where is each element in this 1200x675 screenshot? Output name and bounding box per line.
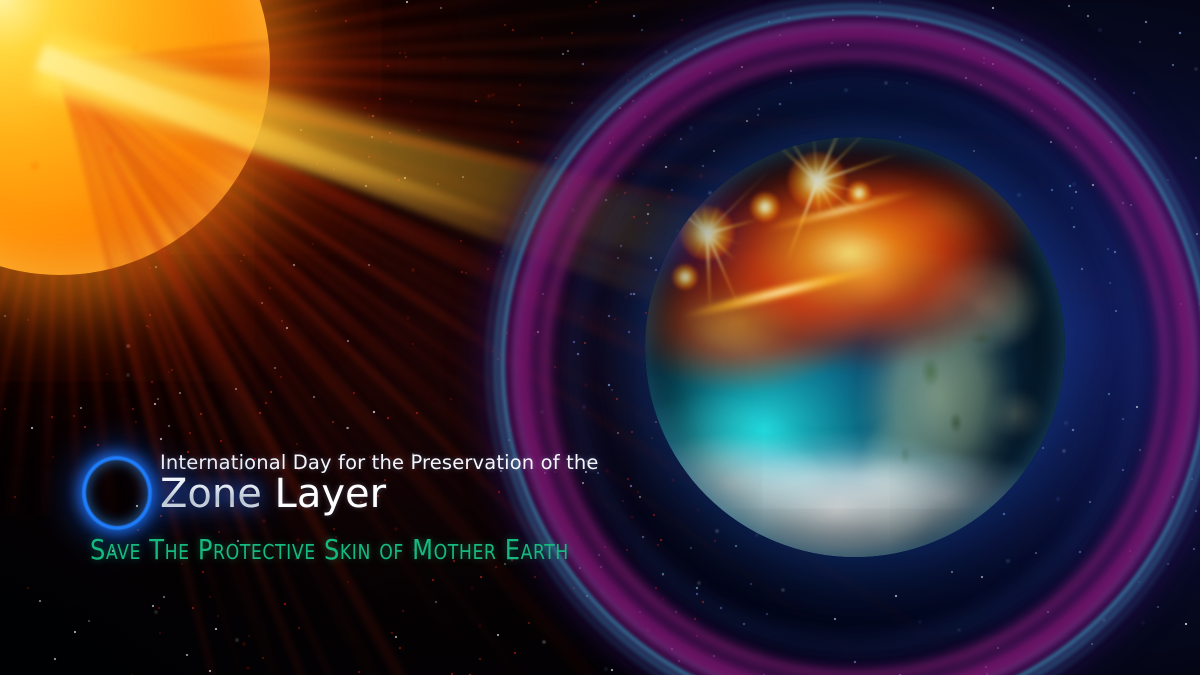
tagline: Save The Protective Skin of Mother Earth xyxy=(90,533,569,566)
earth-group xyxy=(585,95,1125,635)
headline-word-layer: Layer xyxy=(262,471,386,517)
headline-word-zone: Zone xyxy=(160,471,262,517)
poster-canvas: International Day for the Preservation o… xyxy=(0,0,1200,675)
earth-globe xyxy=(645,137,1065,557)
headline-line-2: Zone Layer xyxy=(160,474,386,514)
earth-rim-light xyxy=(645,137,1065,557)
